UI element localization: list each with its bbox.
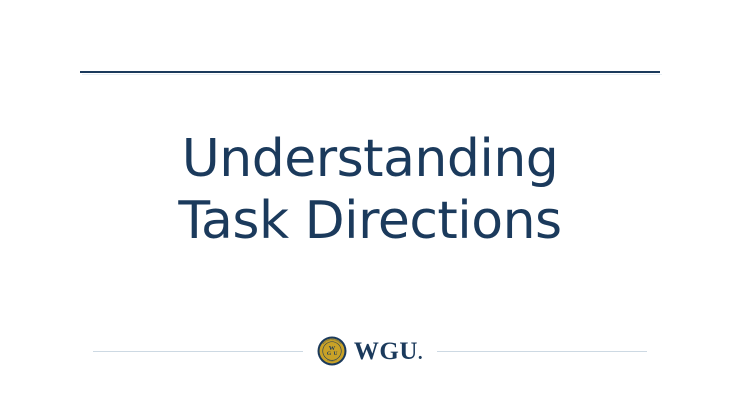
title-line-1: Understanding [0,128,740,190]
wgu-seal-icon: W G U WESTERN GOVERNORS UNIVERSITY [317,336,347,366]
wgu-logo: W G U WESTERN GOVERNORS UNIVERSITY WGU. [317,336,423,366]
footer-divider-left [93,351,303,352]
top-divider-rule [80,71,660,73]
slide-footer: W G U WESTERN GOVERNORS UNIVERSITY WGU. [0,334,740,368]
wgu-wordmark-period: . [418,343,423,364]
title-line-2: Task Directions [0,190,740,252]
page-title: Understanding Task Directions [0,128,740,252]
title-slide: Understanding Task Directions W G U [0,0,740,416]
top-divider-rule-shadow [82,74,662,75]
svg-text:G: G [327,351,332,357]
footer-divider-right [437,351,647,352]
wgu-wordmark-text: WGU [354,338,418,365]
wgu-wordmark: WGU. [354,339,423,364]
svg-text:U: U [333,351,337,357]
